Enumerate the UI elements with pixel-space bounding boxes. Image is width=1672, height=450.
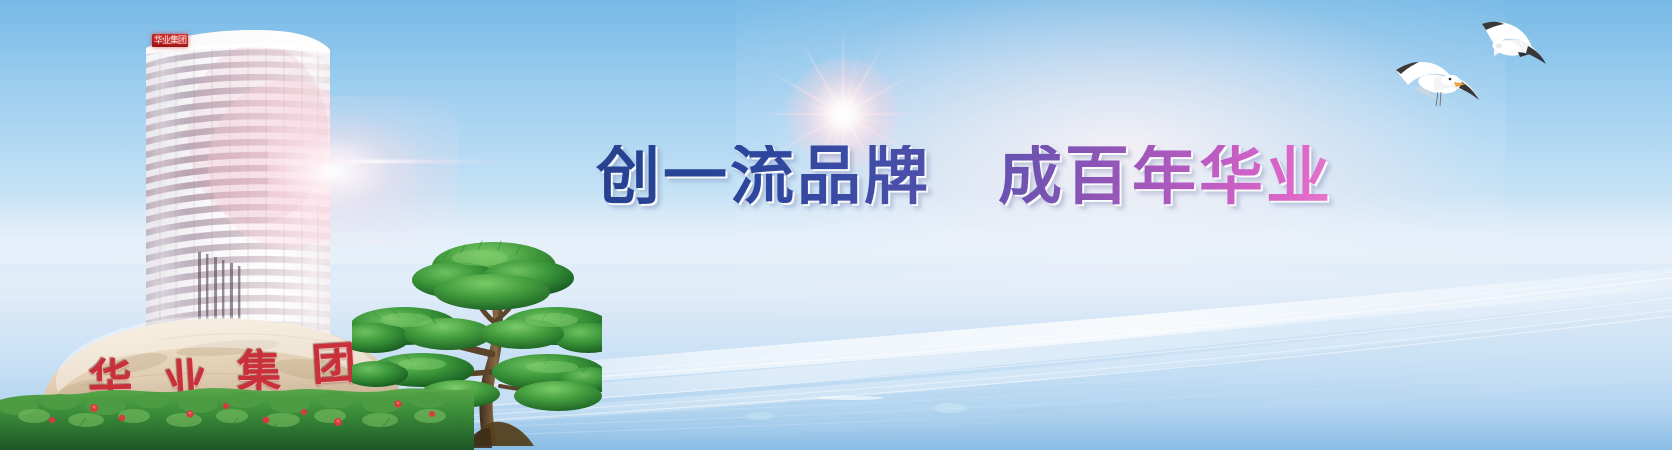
tower-rooftop-sign: 华业集团 [152,34,188,47]
pine-tree-icon [352,222,602,450]
hero-banner: 华业集团 [0,0,1672,450]
